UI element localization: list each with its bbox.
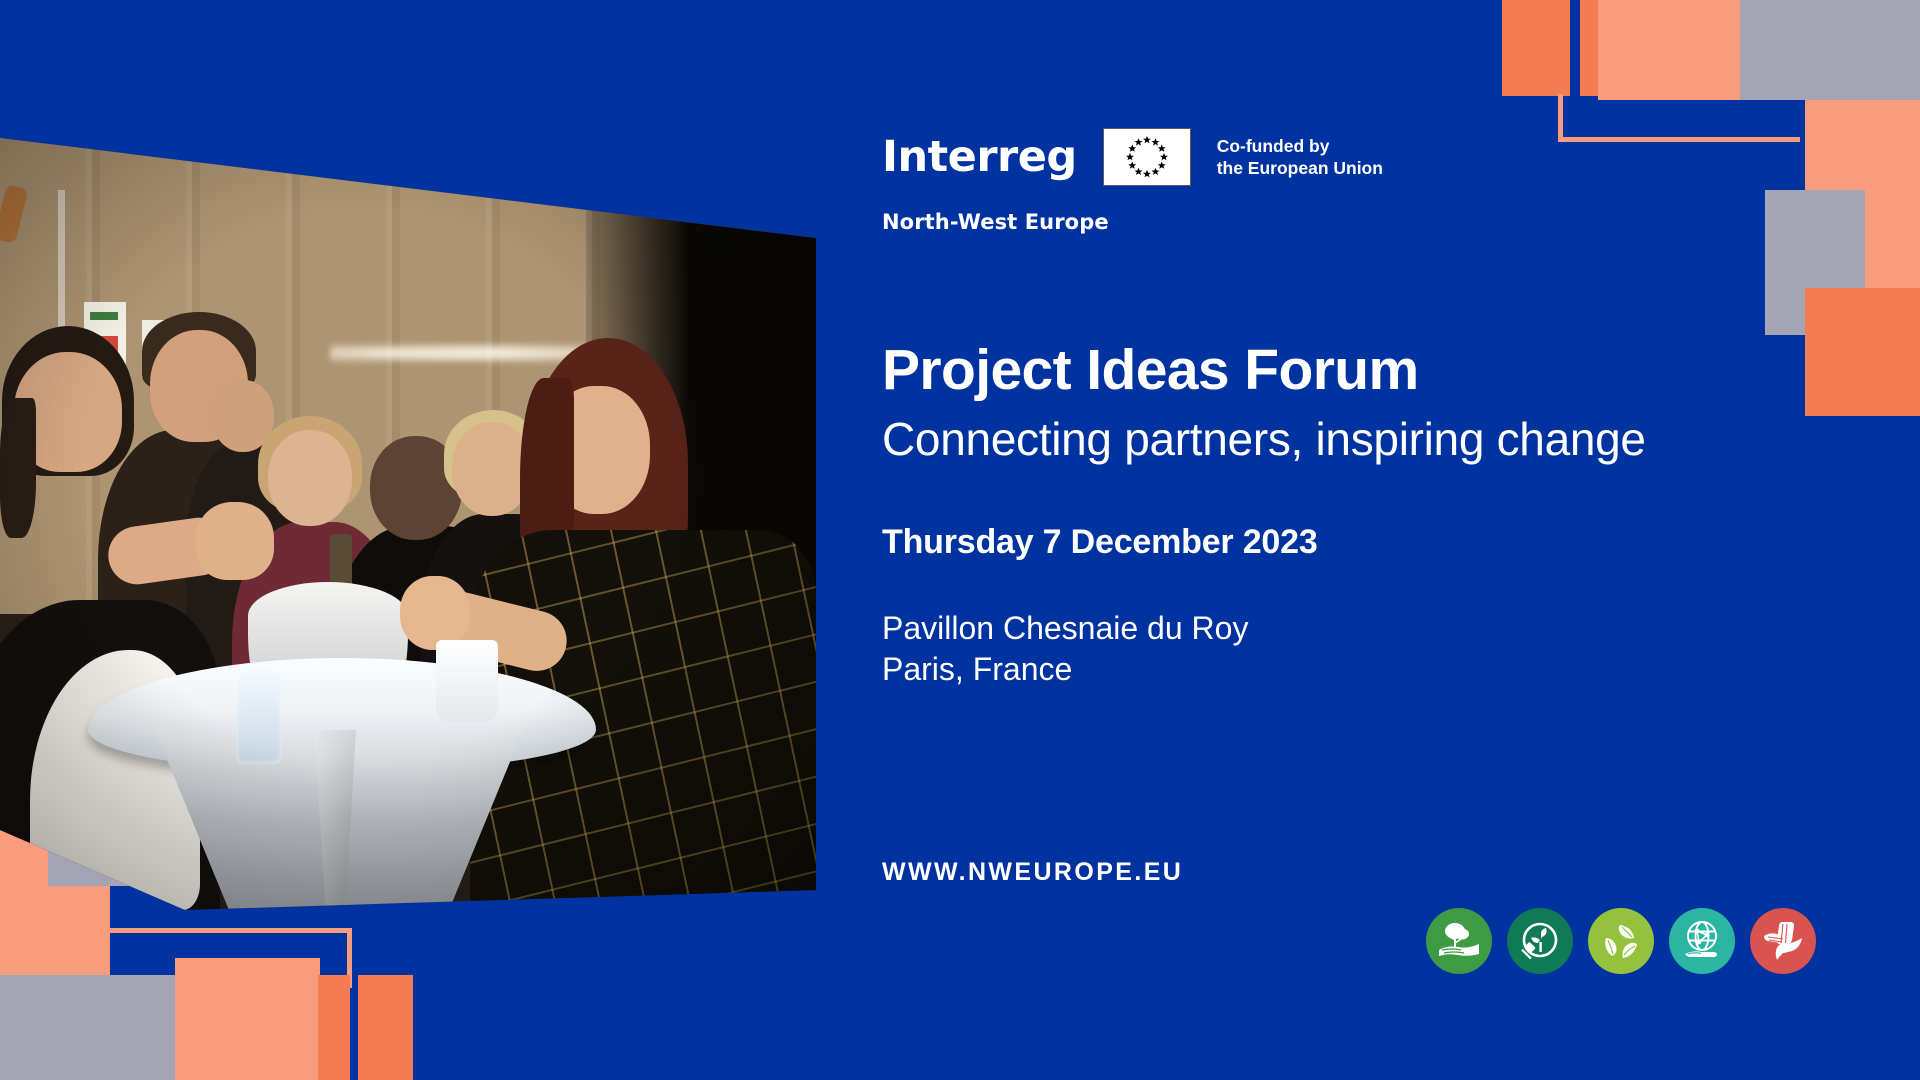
circular-economy-badge bbox=[1588, 908, 1654, 974]
deco-rect-orange-bl-5 bbox=[358, 975, 413, 1080]
innovation-badge bbox=[1669, 908, 1735, 974]
headline-block: Project Ideas Forum Connecting partners,… bbox=[882, 340, 1822, 690]
leaves-cycle-icon bbox=[1596, 916, 1646, 966]
event-subtitle: Connecting partners, inspiring change bbox=[882, 414, 1822, 466]
website-url[interactable]: WWW.NWEUROPE.EU bbox=[882, 858, 1183, 887]
event-title: Project Ideas Forum bbox=[882, 340, 1822, 402]
venue-name: Pavillon Chesnaie du Roy bbox=[882, 608, 1822, 649]
interreg-wordmark: Interreg bbox=[882, 136, 1077, 179]
globe-hand-icon bbox=[1677, 916, 1727, 966]
climate-environment-badge bbox=[1426, 908, 1492, 974]
tree-landscape-icon bbox=[1434, 916, 1484, 966]
venue-location: Paris, France bbox=[882, 649, 1822, 690]
event-venue: Pavillon Chesnaie du Roy Paris, France bbox=[882, 608, 1822, 690]
event-date: Thursday 7 December 2023 bbox=[882, 523, 1822, 562]
conference-networking-photo bbox=[0, 130, 816, 910]
joined-hands-icon bbox=[1758, 916, 1808, 966]
programme-priority-badges bbox=[1426, 908, 1816, 974]
energy-transition-badge bbox=[1507, 908, 1573, 974]
deco-rect-salmon-bl-2 bbox=[175, 958, 320, 1080]
interreg-logo-block: Interreg bbox=[882, 128, 1383, 234]
programme-name: North-West Europe bbox=[882, 210, 1383, 234]
deco-rect-orange-bl-4 bbox=[318, 975, 350, 1080]
eu-funding-statement: Co-funded by the European Union bbox=[1217, 135, 1383, 180]
deco-rect-grey-bl-2 bbox=[0, 975, 175, 1080]
plug-sprout-icon bbox=[1515, 916, 1565, 966]
event-poster: Interreg bbox=[0, 0, 1920, 1080]
inclusive-society-badge bbox=[1750, 908, 1816, 974]
european-union-flag-icon bbox=[1103, 128, 1191, 186]
